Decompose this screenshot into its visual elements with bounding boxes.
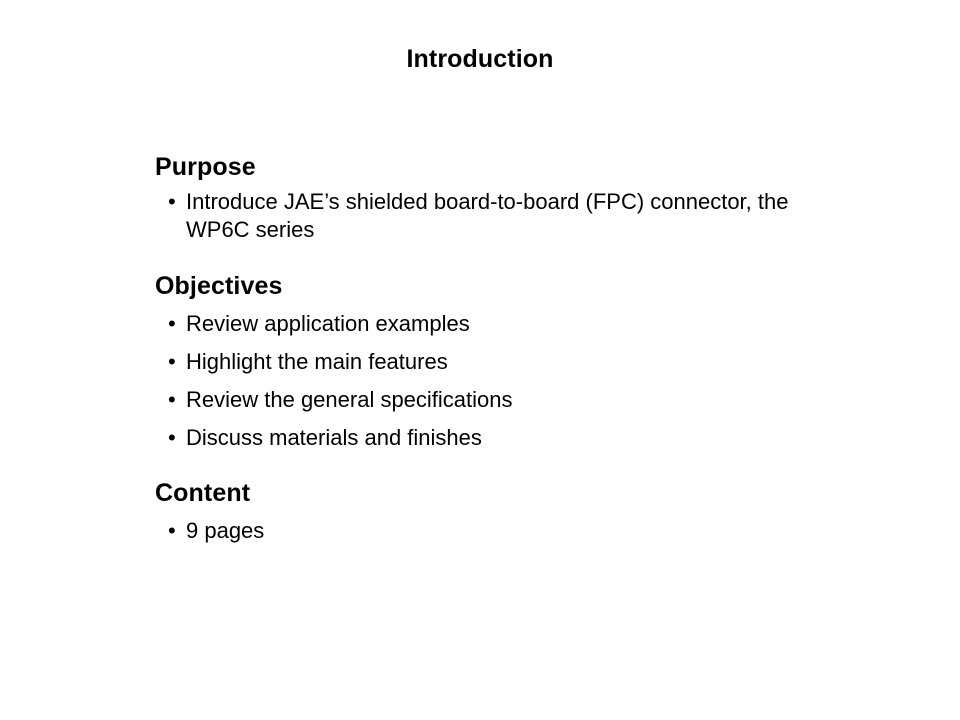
list-item-label: Discuss materials and finishes	[186, 424, 895, 452]
list-item: • Review the general specifications	[155, 386, 895, 414]
bullet-list-purpose: • Introduce JAE’s shielded board-to-boar…	[155, 188, 895, 244]
page-title: Introduction	[0, 44, 960, 74]
list-item: • Introduce JAE’s shielded board-to-boar…	[155, 188, 858, 244]
section-content: Content • 9 pages	[155, 478, 895, 545]
bullet-dot-icon: •	[168, 517, 180, 545]
bullet-dot-icon: •	[168, 188, 180, 216]
bullet-list-objectives: • Review application examples • Highligh…	[155, 310, 895, 452]
list-item-label: Review the general specifications	[186, 386, 895, 414]
bullet-dot-icon: •	[168, 310, 180, 338]
list-item-label: Review application examples	[186, 310, 895, 338]
list-item: • Discuss materials and finishes	[155, 424, 895, 452]
slide-body: Purpose • Introduce JAE’s shielded board…	[155, 152, 895, 545]
section-heading-objectives: Objectives	[155, 271, 895, 301]
list-item: • Review application examples	[155, 310, 895, 338]
list-item: • Highlight the main features	[155, 348, 895, 376]
list-item: • 9 pages	[155, 517, 895, 545]
bullet-dot-icon: •	[168, 424, 180, 452]
bullet-dot-icon: •	[168, 386, 180, 414]
section-heading-content: Content	[155, 478, 895, 508]
bullet-list-content: • 9 pages	[155, 517, 895, 545]
list-item-label: Highlight the main features	[186, 348, 895, 376]
section-purpose: Purpose • Introduce JAE’s shielded board…	[155, 152, 895, 244]
slide: Introduction Purpose • Introduce JAE’s s…	[0, 0, 960, 720]
bullet-dot-icon: •	[168, 348, 180, 376]
section-heading-purpose: Purpose	[155, 152, 895, 182]
section-objectives: Objectives • Review application examples…	[155, 271, 895, 452]
list-item-label: Introduce JAE’s shielded board-to-board …	[186, 188, 858, 244]
list-item-label: 9 pages	[186, 517, 895, 545]
